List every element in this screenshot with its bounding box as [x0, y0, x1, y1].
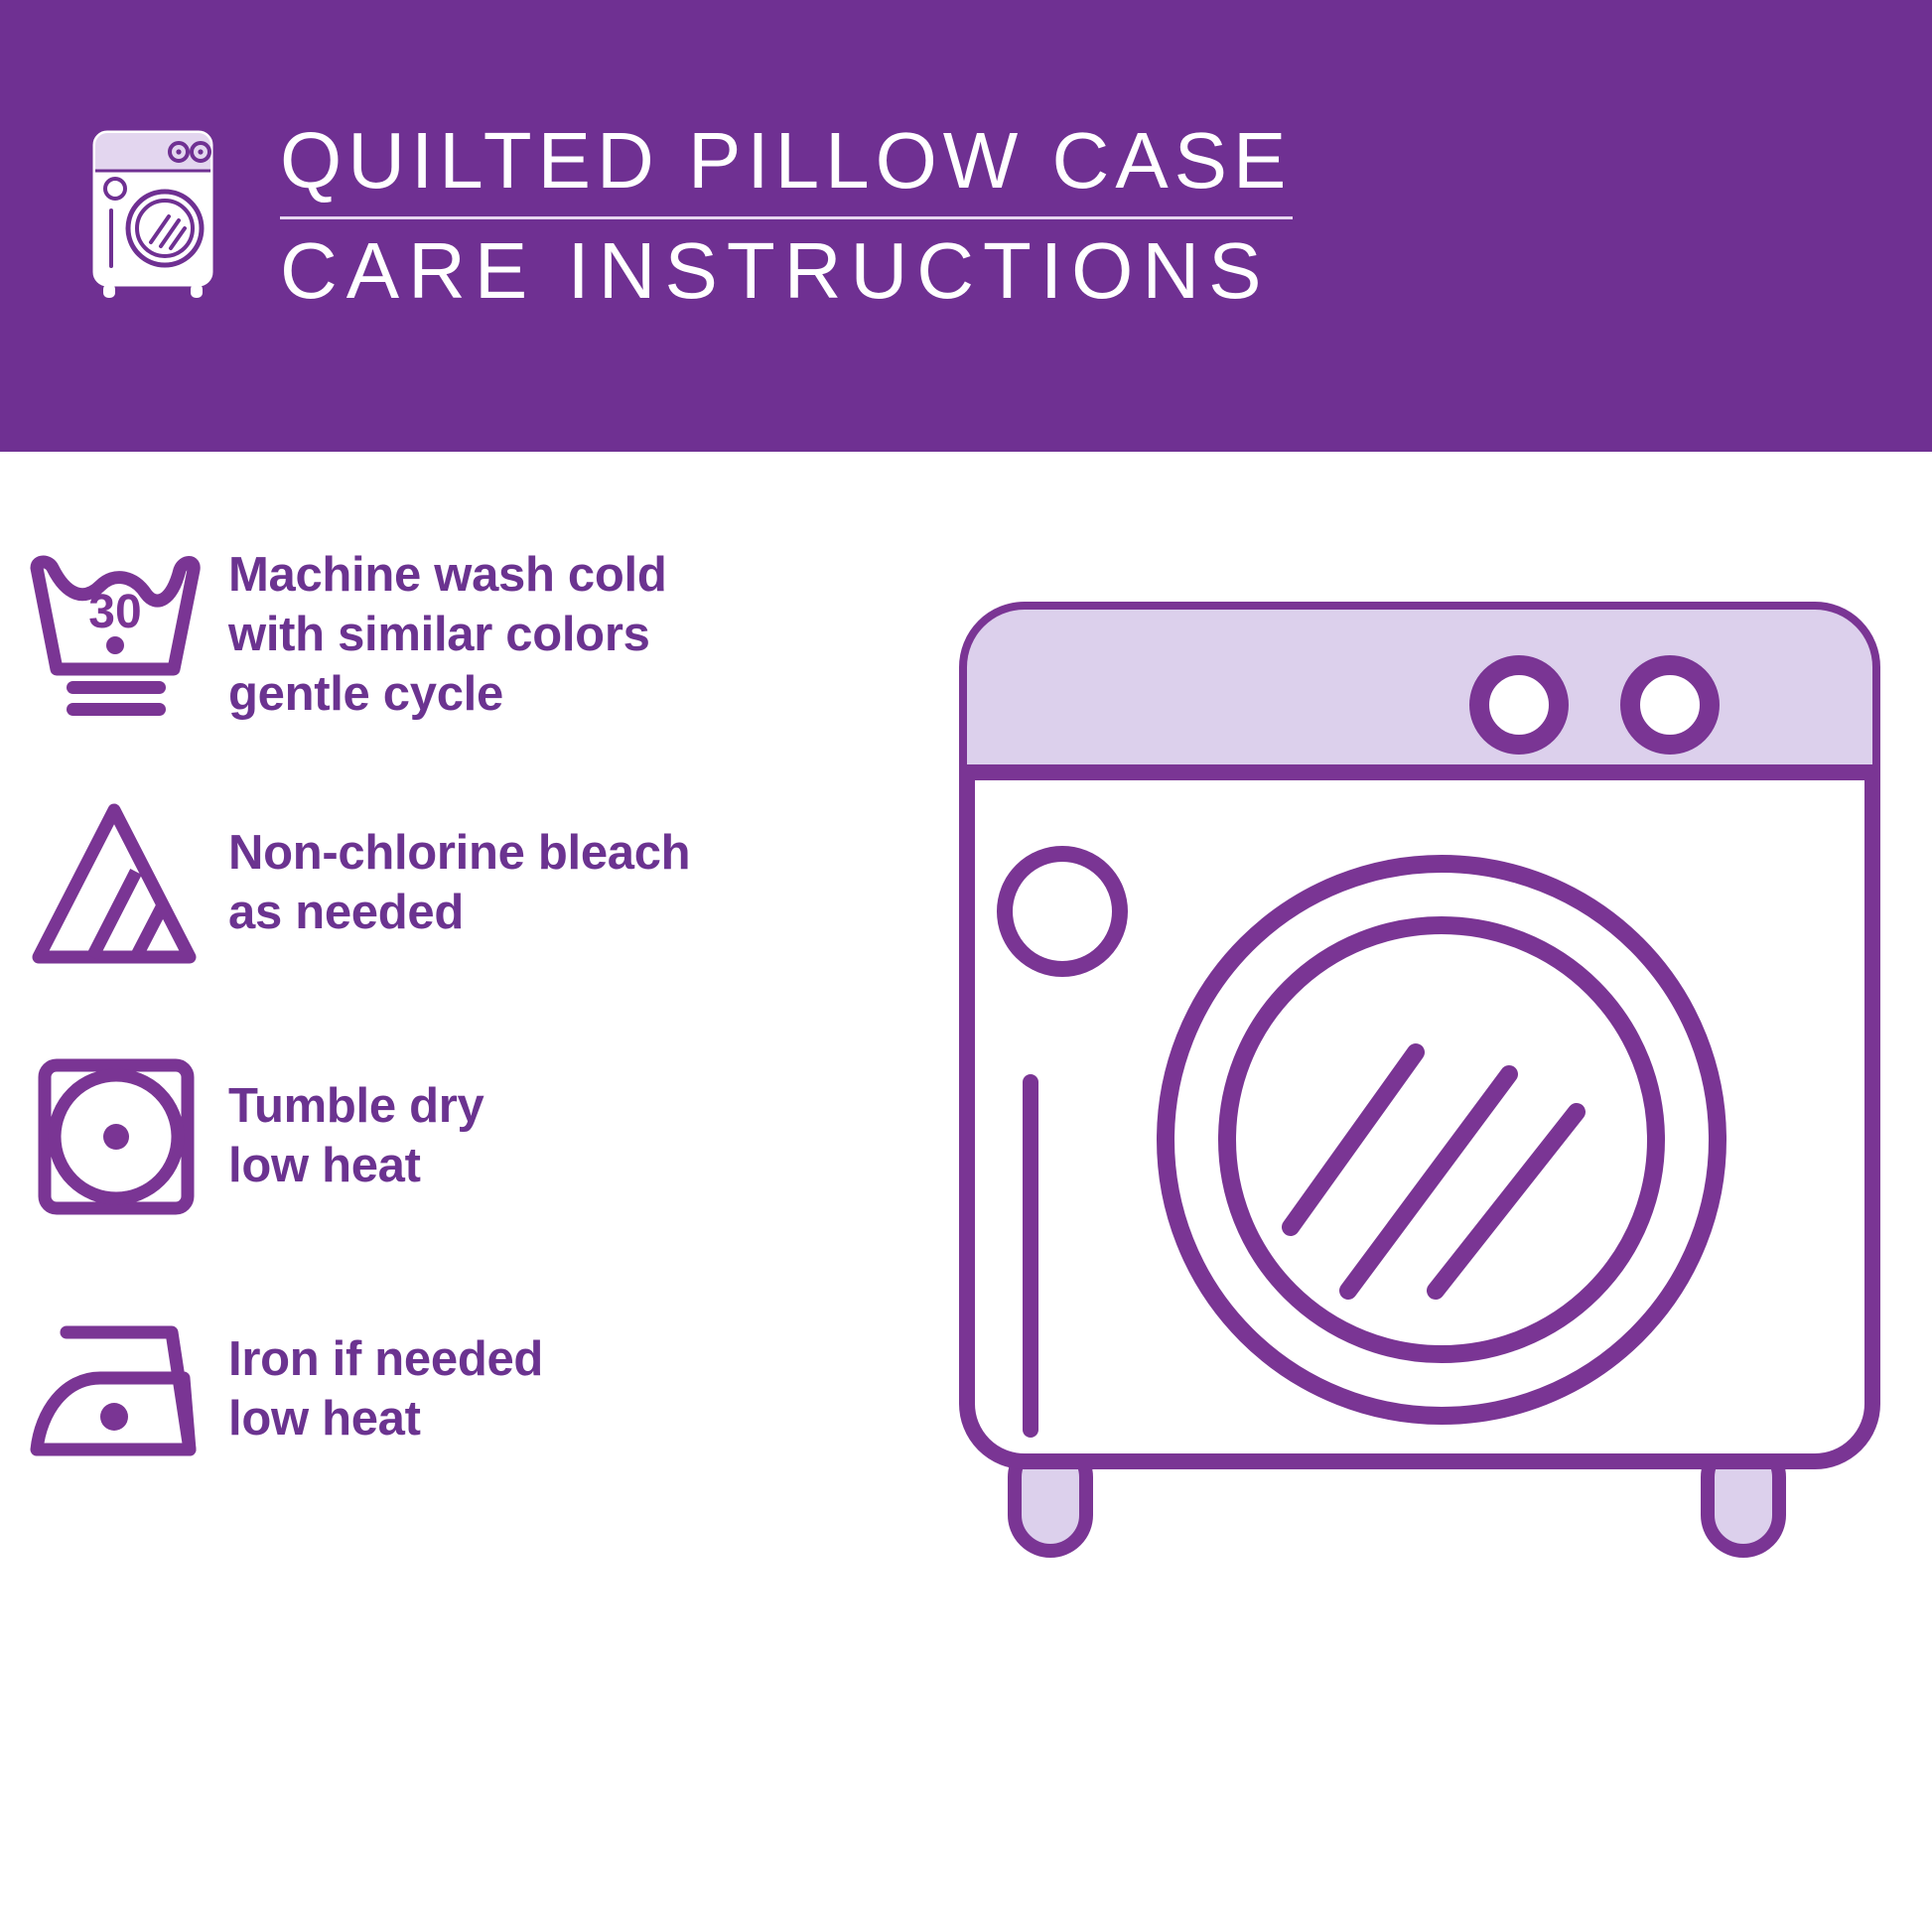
wash-temperature-text: 30: [88, 586, 141, 638]
care-instructions-page: QUILTED PILLOW CASE CARE INSTRUCTIONS 30: [0, 0, 1932, 1932]
care-row-bleach: Non-chlorine bleach as needed: [0, 779, 933, 988]
page-title-secondary: CARE INSTRUCTIONS: [280, 231, 1332, 311]
tumble-dry-low-icon: [0, 1033, 228, 1241]
page-title-primary: QUILTED PILLOW CASE: [280, 121, 1332, 201]
care-label-bleach: Non-chlorine bleach as needed: [228, 824, 690, 943]
washing-machine-illustration: [953, 596, 1886, 1588]
non-chlorine-bleach-triangle-icon: [0, 779, 228, 988]
knob-right: [1630, 665, 1710, 745]
iron-low-heat-icon: [0, 1286, 228, 1494]
control-panel: [967, 610, 1872, 772]
care-row-tumble-dry: Tumble dry low heat: [0, 1033, 933, 1241]
wash-tub-30-icon: 30: [0, 531, 228, 740]
header-title-group: QUILTED PILLOW CASE CARE INSTRUCTIONS: [280, 121, 1332, 311]
care-row-iron: Iron if needed low heat: [0, 1286, 933, 1494]
washing-machine-icon: [81, 127, 230, 301]
care-label-machine-wash: Machine wash cold with similar colors ge…: [228, 546, 666, 724]
care-instruction-list: 30 Machine wash cold with similar colors…: [0, 452, 933, 1932]
care-row-machine-wash: 30 Machine wash cold with similar colors…: [0, 531, 933, 740]
title-divider: [280, 216, 1293, 219]
care-label-tumble-dry: Tumble dry low heat: [228, 1077, 483, 1196]
knob-left: [1479, 665, 1559, 745]
care-label-iron: Iron if needed low heat: [228, 1330, 543, 1449]
header-band: QUILTED PILLOW CASE CARE INSTRUCTIONS: [0, 0, 1932, 452]
